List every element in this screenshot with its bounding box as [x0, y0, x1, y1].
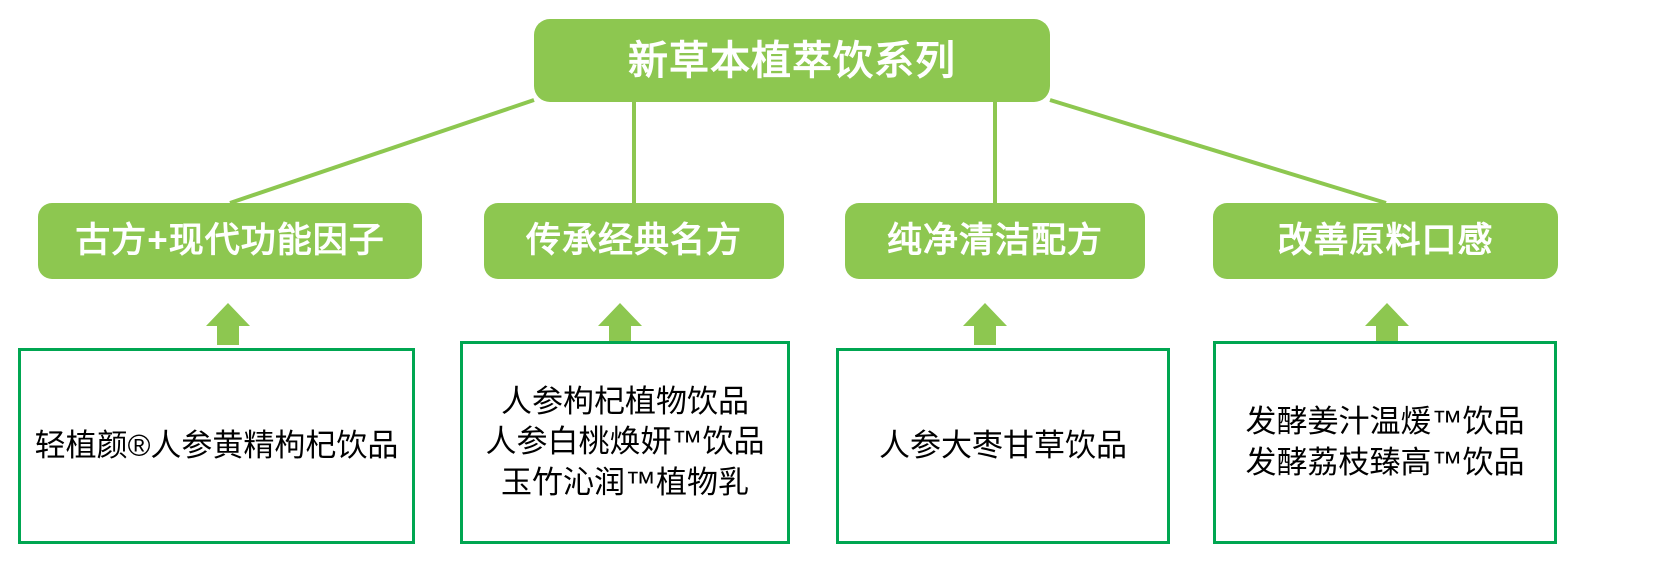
detail-box-classic-prescription[interactable]: 人参枸杞植物饮品 人参白桃焕妍™饮品 玉竹沁润™植物乳 — [460, 341, 790, 544]
category-node-label: 改善原料口感 — [1277, 221, 1493, 261]
category-node-label: 古方+现代功能因子 — [75, 221, 384, 261]
category-node-improved-taste[interactable]: 改善原料口感 — [1213, 203, 1558, 279]
arrow-up-icon-2 — [963, 303, 1007, 345]
connector-line-root-to-category-0 — [230, 100, 534, 203]
root-node[interactable]: 新草本植萃饮系列 — [534, 19, 1050, 102]
category-node-label: 传承经典名方 — [526, 221, 742, 261]
detail-box-text: 发酵姜汁温煖™饮品 发酵荔枝臻高™饮品 — [1246, 402, 1525, 483]
connector-line-root-to-category-3 — [1050, 100, 1386, 203]
detail-box-text: 人参枸杞植物饮品 人参白桃焕妍™饮品 玉竹沁润™植物乳 — [486, 382, 765, 503]
detail-box-text: 轻植颜®人参黄精枸杞饮品 — [35, 426, 399, 466]
arrow-up-icon-3 — [1365, 303, 1409, 345]
detail-box-clean-formula[interactable]: 人参大枣甘草饮品 — [836, 348, 1170, 544]
category-node-ancient-formula[interactable]: 古方+现代功能因子 — [38, 203, 422, 279]
category-node-clean-formula[interactable]: 纯净清洁配方 — [845, 203, 1145, 279]
detail-box-text: 人参大枣甘草饮品 — [879, 426, 1127, 466]
arrow-up-icon-0 — [206, 303, 250, 345]
org-diagram: 新草本植萃饮系列 古方+现代功能因子 传承经典名方 纯净清洁配方 改善原料口感 … — [0, 0, 1670, 582]
category-node-classic-prescription[interactable]: 传承经典名方 — [484, 203, 784, 279]
detail-box-improved-taste[interactable]: 发酵姜汁温煖™饮品 发酵荔枝臻高™饮品 — [1213, 341, 1557, 544]
root-node-label: 新草本植萃饮系列 — [628, 38, 956, 84]
arrow-up-icon-1 — [598, 303, 642, 345]
category-node-label: 纯净清洁配方 — [887, 221, 1103, 261]
detail-box-ancient-formula[interactable]: 轻植颜®人参黄精枸杞饮品 — [18, 348, 415, 544]
